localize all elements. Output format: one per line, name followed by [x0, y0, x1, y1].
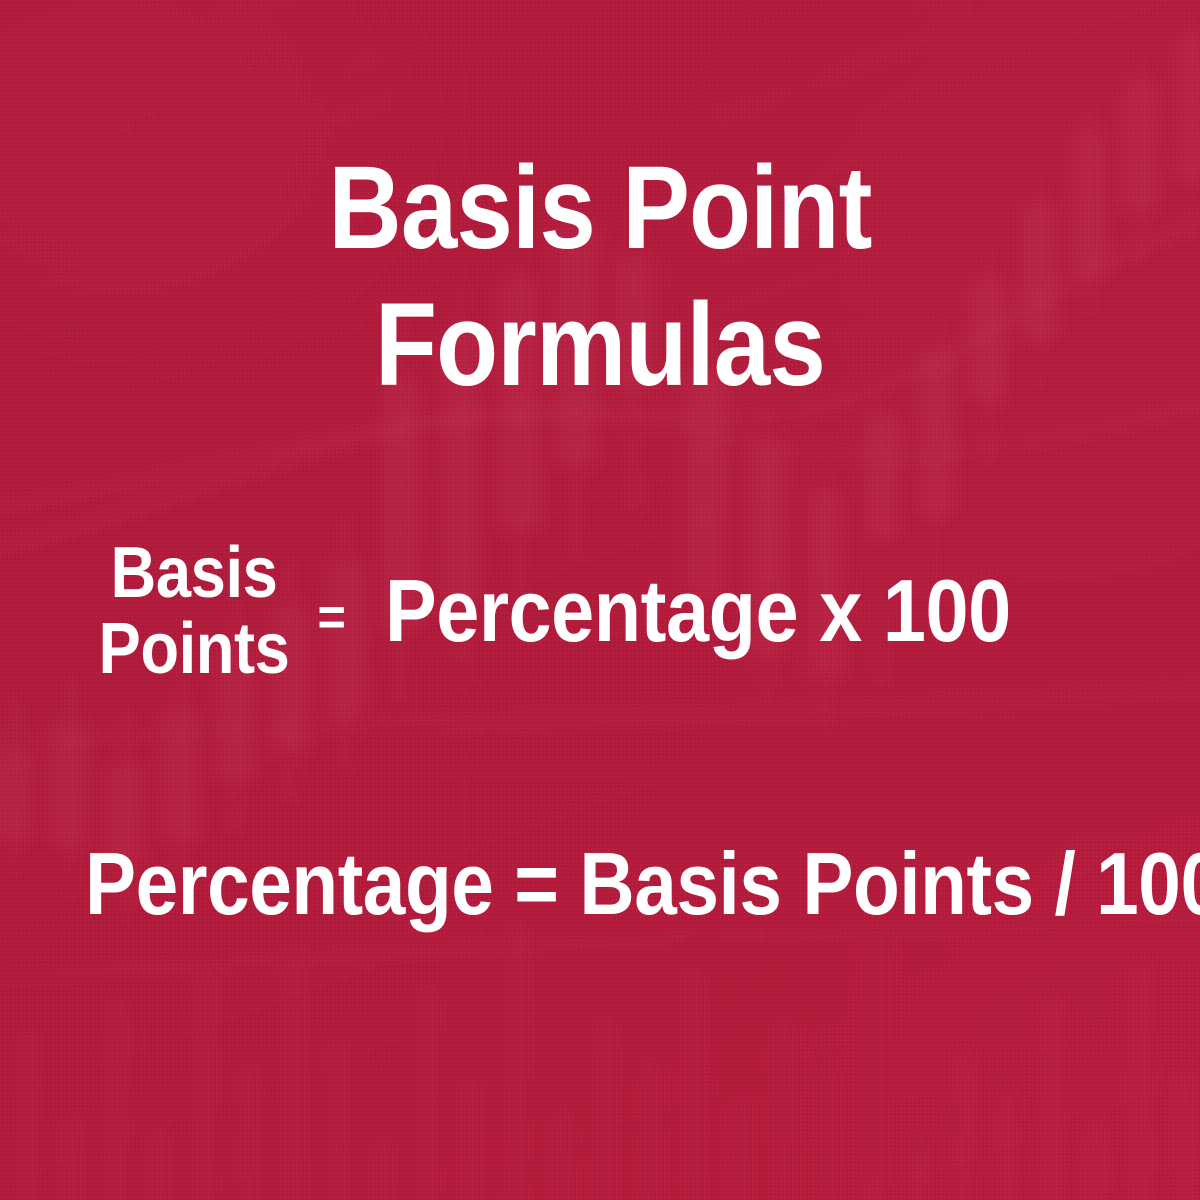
title-line-1: Basis Point — [84, 140, 1116, 277]
poster-canvas: Basis Point Formulas Basis Points = Perc… — [0, 0, 1200, 1200]
page-title: Basis Point Formulas — [0, 140, 1200, 414]
formula-one-left-side: Basis Points — [92, 535, 296, 688]
formula-one-lhs-line-2: Points — [92, 611, 296, 687]
title-line-2: Formulas — [84, 277, 1116, 414]
formula-basis-points: Basis Points = Percentage x 100 — [0, 535, 1200, 688]
poster-content: Basis Point Formulas Basis Points = Perc… — [0, 0, 1200, 1200]
formula-one-right-side: Percentage x 100 — [385, 567, 1011, 655]
formula-one-lhs-line-1: Basis — [92, 535, 296, 611]
formula-percentage: Percentage = Basis Points / 100 — [0, 840, 1200, 928]
formula-two-text: Percentage = Basis Points / 100 — [85, 840, 1200, 928]
formula-one-equals-sign: = — [318, 590, 346, 644]
